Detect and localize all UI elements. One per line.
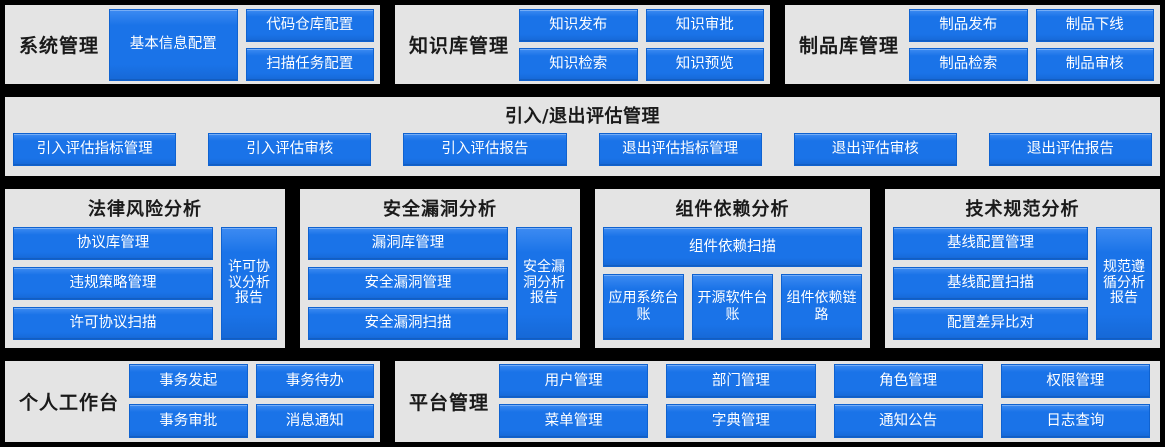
button-baseline-config-scan[interactable]: 基线配置扫描 [893, 267, 1088, 300]
panel-legal-risk-analysis: 法律风险分析 协议库管理 违规策略管理 许可协议扫描 许可协议分析报告 [2, 186, 288, 350]
security-button-stack: 漏洞库管理 安全漏洞管理 安全漏洞扫描 [308, 227, 508, 339]
panel-title-security-vulnerability-analysis: 安全漏洞分析 [308, 191, 572, 227]
button-department-management[interactable]: 部门管理 [666, 364, 815, 398]
button-knowledge-approval[interactable]: 知识审批 [646, 9, 765, 42]
button-application-system-ledger[interactable]: 应用系统台账 [603, 274, 684, 339]
button-violation-policy-management[interactable]: 违规策略管理 [13, 267, 213, 300]
panel-intro-exit-evaluation-management: 引入/退出评估管理 引入评估指标管理 引入评估审核 引入评估报告 退出评估指标管… [2, 94, 1163, 179]
module-map-board: 系统管理 基本信息配置 代码仓库配置 扫描任务配置 知识库管理 知识发布 知识审… [0, 0, 1165, 447]
button-license-analysis-report[interactable]: 许可协议分析报告 [221, 227, 277, 339]
button-user-management[interactable]: 用户管理 [499, 364, 648, 398]
button-config-difference-comparison[interactable]: 配置差异比对 [893, 307, 1088, 340]
component-scan-row: 组件依赖扫描 [603, 227, 862, 267]
panel-component-dependency-analysis: 组件依赖分析 组件依赖扫描 应用系统台账 开源软件台账 组件依赖链路 [592, 186, 873, 350]
row-evaluation-management: 引入/退出评估管理 引入评估指标管理 引入评估审核 引入评估报告 退出评估指标管… [2, 94, 1163, 179]
button-exit-eval-indicator-management[interactable]: 退出评估指标管理 [599, 133, 762, 166]
legal-body: 协议库管理 违规策略管理 许可协议扫描 许可协议分析报告 [13, 227, 277, 339]
button-artifact-audit[interactable]: 制品审核 [1036, 48, 1155, 81]
button-menu-management[interactable]: 菜单管理 [499, 404, 648, 438]
row-workbench-platform: 个人工作台 事务发起 事务待办 事务审批 消息通知 平台管理 用户管理 部门管理… [2, 358, 1163, 445]
button-message-notification[interactable]: 消息通知 [256, 404, 375, 438]
button-permission-management[interactable]: 权限管理 [1001, 364, 1150, 398]
button-artifact-offline[interactable]: 制品下线 [1036, 9, 1155, 42]
row-system-knowledge-artifact: 系统管理 基本信息配置 代码仓库配置 扫描任务配置 知识库管理 知识发布 知识审… [2, 2, 1163, 87]
panel-title-intro-exit-evaluation: 引入/退出评估管理 [13, 99, 1152, 133]
button-exit-eval-report[interactable]: 退出评估报告 [989, 133, 1152, 166]
button-exit-eval-audit[interactable]: 退出评估审核 [794, 133, 957, 166]
button-task-todo[interactable]: 事务待办 [256, 364, 375, 398]
button-task-initiate[interactable]: 事务发起 [129, 364, 247, 398]
panel-technical-specification-analysis: 技术规范分析 基线配置管理 基线配置扫描 配置差异比对 规范遵循分析报告 [882, 186, 1163, 350]
button-grid-system-management: 基本信息配置 代码仓库配置 扫描任务配置 [109, 9, 374, 81]
panel-knowledge-base-management: 知识库管理 知识发布 知识审批 知识检索 知识预览 [392, 2, 773, 87]
button-grid-personal-workbench: 事务发起 事务待办 事务审批 消息通知 [129, 364, 374, 438]
button-grid-knowledge-base: 知识发布 知识审批 知识检索 知识预览 [519, 9, 764, 81]
panel-label-artifact-repository-management: 制品库管理 [791, 31, 909, 58]
panel-artifact-repository-management: 制品库管理 制品发布 制品下线 制品检索 制品审核 [782, 2, 1163, 87]
button-security-vulnerability-analysis-report[interactable]: 安全漏洞分析报告 [516, 227, 572, 339]
panel-label-personal-workbench: 个人工作台 [11, 388, 129, 415]
technical-body: 基线配置管理 基线配置扫描 配置差异比对 规范遵循分析报告 [893, 227, 1152, 339]
button-vulnerability-library-management[interactable]: 漏洞库管理 [308, 227, 508, 260]
button-intro-eval-audit[interactable]: 引入评估审核 [208, 133, 371, 166]
button-specification-compliance-analysis-report[interactable]: 规范遵循分析报告 [1096, 227, 1152, 339]
row-analysis-modules: 法律风险分析 协议库管理 违规策略管理 许可协议扫描 许可协议分析报告 安全漏洞… [2, 186, 1163, 350]
button-dictionary-management[interactable]: 字典管理 [666, 404, 815, 438]
button-open-source-software-ledger[interactable]: 开源软件台账 [692, 274, 773, 339]
button-security-vulnerability-management[interactable]: 安全漏洞管理 [308, 267, 508, 300]
button-log-query[interactable]: 日志查询 [1001, 404, 1150, 438]
panel-personal-workbench: 个人工作台 事务发起 事务待办 事务审批 消息通知 [2, 358, 383, 445]
button-baseline-config-management[interactable]: 基线配置管理 [893, 227, 1088, 260]
panel-title-technical-specification-analysis: 技术规范分析 [893, 191, 1152, 227]
component-body: 组件依赖扫描 应用系统台账 开源软件台账 组件依赖链路 [603, 227, 862, 339]
button-artifact-publish[interactable]: 制品发布 [909, 9, 1027, 42]
button-role-management[interactable]: 角色管理 [834, 364, 983, 398]
button-knowledge-publish[interactable]: 知识发布 [519, 9, 637, 42]
legal-button-stack: 协议库管理 违规策略管理 许可协议扫描 [13, 227, 213, 339]
button-notice-announcement[interactable]: 通知公告 [834, 404, 983, 438]
button-license-agreement-scan[interactable]: 许可协议扫描 [13, 307, 213, 340]
security-body: 漏洞库管理 安全漏洞管理 安全漏洞扫描 安全漏洞分析报告 [308, 227, 572, 339]
button-scan-task-config[interactable]: 扫描任务配置 [246, 48, 375, 81]
panel-title-component-dependency-analysis: 组件依赖分析 [603, 191, 862, 227]
panel-label-system-management: 系统管理 [11, 31, 109, 58]
button-code-repo-config[interactable]: 代码仓库配置 [246, 9, 375, 42]
button-grid-platform-management: 用户管理 部门管理 角色管理 权限管理 菜单管理 字典管理 通知公告 日志查询 [499, 364, 1154, 438]
technical-button-stack: 基线配置管理 基线配置扫描 配置差异比对 [893, 227, 1088, 339]
button-component-dependency-chain[interactable]: 组件依赖链路 [781, 274, 862, 339]
component-ledger-row: 应用系统台账 开源软件台账 组件依赖链路 [603, 274, 862, 339]
panel-security-vulnerability-analysis: 安全漏洞分析 漏洞库管理 安全漏洞管理 安全漏洞扫描 安全漏洞分析报告 [297, 186, 583, 350]
panel-label-knowledge-base-management: 知识库管理 [401, 31, 519, 58]
button-grid-artifact-repository: 制品发布 制品下线 制品检索 制品审核 [909, 9, 1154, 81]
button-intro-eval-indicator-management[interactable]: 引入评估指标管理 [13, 133, 176, 166]
button-intro-eval-report[interactable]: 引入评估报告 [403, 133, 566, 166]
button-license-library-management[interactable]: 协议库管理 [13, 227, 213, 260]
button-task-approval[interactable]: 事务审批 [129, 404, 247, 438]
button-artifact-search[interactable]: 制品检索 [909, 48, 1027, 81]
button-security-vulnerability-scan[interactable]: 安全漏洞扫描 [308, 307, 508, 340]
button-basic-info-config[interactable]: 基本信息配置 [109, 9, 237, 81]
button-knowledge-preview[interactable]: 知识预览 [646, 48, 765, 81]
panel-platform-management: 平台管理 用户管理 部门管理 角色管理 权限管理 菜单管理 字典管理 通知公告 … [392, 358, 1163, 445]
panel-system-management: 系统管理 基本信息配置 代码仓库配置 扫描任务配置 [2, 2, 383, 87]
panel-title-legal-risk-analysis: 法律风险分析 [13, 191, 277, 227]
button-knowledge-search[interactable]: 知识检索 [519, 48, 637, 81]
button-component-dependency-scan[interactable]: 组件依赖扫描 [603, 227, 862, 267]
button-grid-evaluation: 引入评估指标管理 引入评估审核 引入评估报告 退出评估指标管理 退出评估审核 退… [13, 133, 1152, 166]
panel-label-platform-management: 平台管理 [401, 388, 499, 415]
